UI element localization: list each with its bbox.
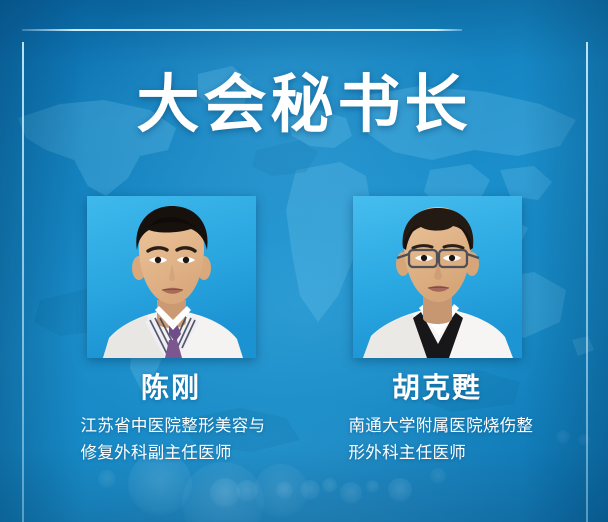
portrait-photo [87, 196, 256, 358]
poster-canvas: 大会秘书长 [0, 0, 608, 522]
person-description-line: 修复外科副主任医师 [81, 440, 256, 467]
page-title: 大会秘书长 [0, 72, 608, 138]
person-card: 陈刚 江苏省中医院整形美容与 修复外科副主任医师 [87, 196, 256, 467]
portrait-photo [353, 196, 522, 358]
person-name: 陈刚 [87, 372, 256, 404]
person-description-line: 形外科主任医师 [349, 440, 522, 467]
people-row: 陈刚 江苏省中医院整形美容与 修复外科副主任医师 [0, 196, 608, 467]
person-name: 胡克甦 [353, 372, 522, 404]
person-description-line: 南通大学附属医院烧伤整 [349, 413, 522, 440]
person-description: 南通大学附属医院烧伤整 形外科主任医师 [349, 413, 522, 466]
person-description: 江苏省中医院整形美容与 修复外科副主任医师 [81, 413, 256, 466]
person-card: 胡克甦 南通大学附属医院烧伤整 形外科主任医师 [353, 196, 522, 467]
frame-top-rule-icon [22, 29, 462, 31]
person-description-line: 江苏省中医院整形美容与 [81, 413, 256, 440]
